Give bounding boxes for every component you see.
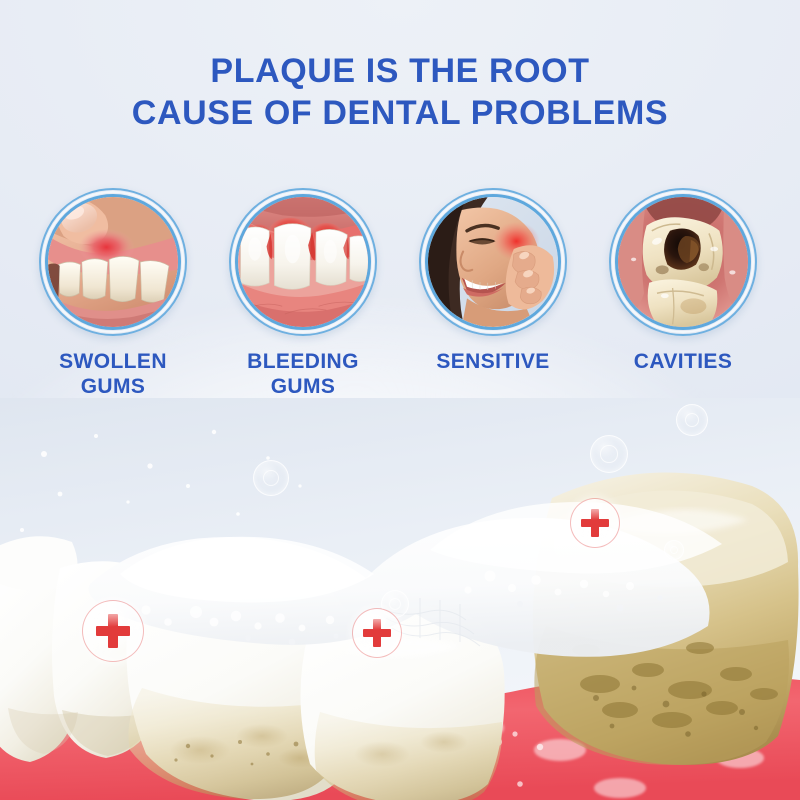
cavities-photo bbox=[618, 197, 748, 327]
plaque-covered-teeth-illustration bbox=[0, 398, 800, 800]
headline-line-2: CAUSE OF DENTAL PROBLEMS bbox=[0, 92, 800, 134]
headline-line-1: PLAQUE IS THE ROOT bbox=[0, 50, 800, 92]
plus-marker-left[interactable] bbox=[82, 600, 144, 662]
symptom-label-cavities: CAVITIES bbox=[588, 349, 778, 374]
symptom-label-line-1: SENSITIVE bbox=[436, 350, 549, 373]
water-bubble-3 bbox=[676, 404, 708, 436]
symptom-circle-bleeding-gums bbox=[229, 188, 377, 336]
poster-root: PLAQUE IS THE ROOT CAUSE OF DENTAL PROBL… bbox=[0, 0, 800, 800]
water-bubble-2 bbox=[590, 435, 628, 473]
sensitive-teeth-photo bbox=[428, 197, 558, 327]
plus-icon bbox=[581, 509, 609, 537]
symptom-label-line-2: GUMS bbox=[81, 375, 146, 398]
water-bubble-5 bbox=[664, 540, 684, 560]
plus-icon bbox=[96, 614, 131, 649]
circle-inner-ring bbox=[615, 194, 751, 330]
symptom-list: SWOLLEN GUMS bbox=[0, 188, 800, 408]
symptom-label-bleeding-gums: BLEEDING GUMS bbox=[208, 349, 398, 399]
symptom-label-swollen-gums: SWOLLEN GUMS bbox=[18, 349, 208, 399]
circle-inner-ring bbox=[45, 194, 181, 330]
circle-inner-ring bbox=[235, 194, 371, 330]
symptom-item-bleeding-gums[interactable]: BLEEDING GUMS bbox=[208, 188, 398, 399]
symptom-circle-cavities bbox=[609, 188, 757, 336]
symptom-label-line-1: CAVITIES bbox=[634, 350, 733, 373]
plus-marker-right[interactable] bbox=[570, 498, 620, 548]
symptom-item-sensitive[interactable]: SENSITIVE bbox=[398, 188, 588, 374]
plus-marker-center[interactable] bbox=[352, 608, 402, 658]
symptom-item-cavities[interactable]: CAVITIES bbox=[588, 188, 778, 374]
page-title: PLAQUE IS THE ROOT CAUSE OF DENTAL PROBL… bbox=[0, 50, 800, 134]
symptom-circle-swollen-gums bbox=[39, 188, 187, 336]
bleeding-gums-photo bbox=[238, 197, 368, 327]
symptom-circle-sensitive bbox=[419, 188, 567, 336]
symptom-label-sensitive: SENSITIVE bbox=[398, 349, 588, 374]
circle-inner-ring bbox=[425, 194, 561, 330]
symptom-label-line-2: GUMS bbox=[271, 375, 336, 398]
symptom-label-line-1: BLEEDING bbox=[247, 350, 359, 373]
swollen-gums-photo bbox=[48, 197, 178, 327]
plus-icon bbox=[363, 619, 391, 647]
symptom-label-line-1: SWOLLEN bbox=[59, 350, 167, 373]
water-bubble-1 bbox=[253, 460, 289, 496]
symptom-item-swollen-gums[interactable]: SWOLLEN GUMS bbox=[18, 188, 208, 399]
